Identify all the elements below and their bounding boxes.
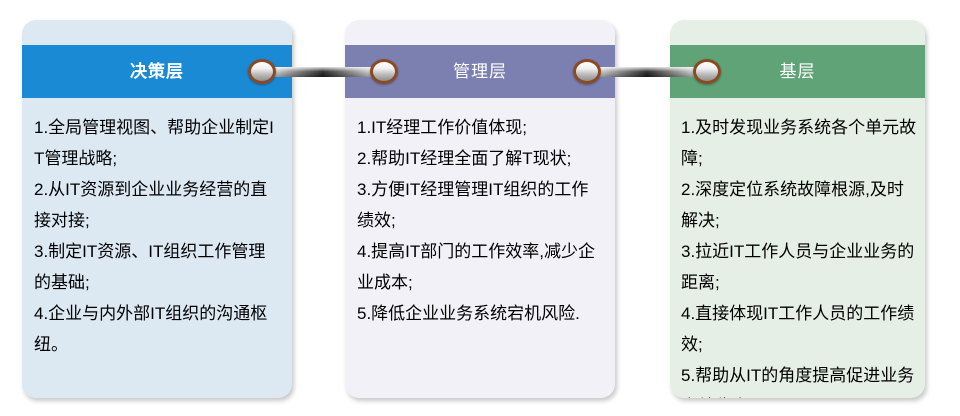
layer-card-management-title: 管理层: [453, 63, 507, 80]
layer-card-management[interactable]: 管理层 1.IT经理工作价值体现; 2.帮助IT经理全面了解T现状; 3.方便I…: [345, 20, 615, 398]
layer-card-decision-body: 1.全局管理视图、帮助企业制定IT管理战略; 2.从IT资源到企业业务经营的直接…: [22, 98, 292, 398]
list-item: 2.深度定位系统故障根源,及时解决;: [681, 174, 919, 236]
layer-card-management-body: 1.IT经理工作价值体现; 2.帮助IT经理全面了解T现状; 3.方便IT经理管…: [345, 98, 615, 398]
layer-card-management-header: 管理层: [345, 45, 615, 98]
list-item: 3.制定IT资源、IT组织工作管理的基础;: [34, 236, 280, 298]
list-item: 4.提高IT部门的工作效率,减少企业成本;: [357, 236, 603, 298]
layer-card-decision-title: 决策层: [130, 63, 184, 80]
list-item: 1.IT经理工作价值体现;: [357, 112, 603, 143]
diagram-canvas: 决策层 1.全局管理视图、帮助企业制定IT管理战略; 2.从IT资源到企业业务经…: [0, 0, 960, 416]
layer-card-base-title: 基层: [780, 63, 816, 80]
list-item: 4.直接体现IT工作人员的工作绩效;: [681, 298, 919, 360]
list-item: 3.方便IT经理管理IT组织的工作绩效;: [357, 174, 603, 236]
layer-card-decision-header: 决策层: [22, 45, 292, 98]
list-item: 3.拉近IT工作人员与企业业务的距离;: [681, 236, 919, 298]
list-item: 5.降低企业业务系统宕机风险.: [357, 298, 603, 329]
list-item: 2.帮助IT经理全面了解T现状;: [357, 143, 603, 174]
list-item: 5.帮助从IT的角度提高促进业务高效稳定。: [681, 360, 919, 398]
layer-card-base-body: 1.及时发现业务系统各个单元故障; 2.深度定位系统故障根源,及时解决; 3.拉…: [670, 98, 925, 398]
layer-card-base-header: 基层: [670, 45, 925, 98]
list-item: 1.及时发现业务系统各个单元故障;: [681, 112, 919, 174]
layer-card-decision[interactable]: 决策层 1.全局管理视图、帮助企业制定IT管理战略; 2.从IT资源到企业业务经…: [22, 20, 292, 398]
layer-card-base[interactable]: 基层 1.及时发现业务系统各个单元故障; 2.深度定位系统故障根源,及时解决; …: [670, 20, 925, 398]
list-item: 1.全局管理视图、帮助企业制定IT管理战略;: [34, 112, 280, 174]
list-item: 4.企业与内外部IT组织的沟通枢纽。: [34, 298, 280, 360]
list-item: 2.从IT资源到企业业务经营的直接对接;: [34, 174, 280, 236]
